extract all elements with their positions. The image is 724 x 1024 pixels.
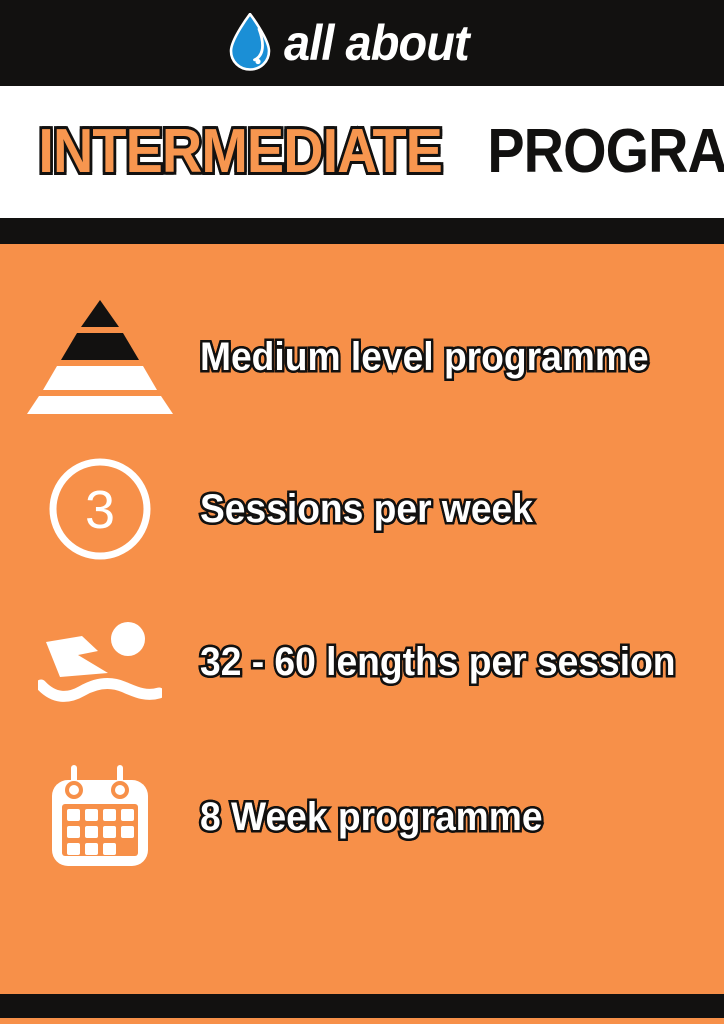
- feature-label-lengths: 32 - 60 lengths per session: [200, 642, 676, 682]
- feature-icon-slot: 3: [0, 455, 200, 563]
- footer-bar: [0, 994, 724, 1018]
- feature-icon-slot: [0, 619, 200, 705]
- feature-row-sessions: 3 Sessions per week: [0, 444, 724, 574]
- feature-label-weeks: 8 Week programme: [200, 797, 543, 837]
- feature-row-lengths: 32 - 60 lengths per session: [0, 602, 724, 722]
- programme-poster: all about INTERMEDIATE PROGRAMME (B) Med…: [0, 0, 724, 1024]
- feature-label-sessions: Sessions per week: [200, 489, 533, 529]
- number-three-circle-icon: 3: [46, 455, 154, 563]
- title-band: INTERMEDIATE PROGRAMME (B): [0, 86, 724, 218]
- page-title: INTERMEDIATE PROGRAMME (B): [0, 121, 724, 183]
- brand-header: all about: [0, 0, 724, 86]
- feature-icon-slot: [0, 298, 200, 416]
- water-droplet-icon: [228, 13, 272, 71]
- feature-label-level: Medium level programme: [200, 337, 649, 377]
- title-plain-word: PROGRAMME (B): [488, 121, 724, 183]
- brand-logo-group: all about: [228, 15, 481, 71]
- title-divider: [0, 218, 724, 244]
- calendar-icon: [48, 764, 152, 870]
- feature-row-level: Medium level programme: [0, 292, 724, 422]
- feature-row-weeks: 8 Week programme: [0, 752, 724, 882]
- footer-foot: [0, 1018, 724, 1024]
- features-list: Medium level programme 3 Sessions per we…: [0, 244, 724, 994]
- pyramid-icon: [27, 298, 173, 416]
- swimmer-icon: [38, 619, 162, 705]
- brand-name: all about: [284, 18, 469, 68]
- title-highlight-word: INTERMEDIATE: [38, 121, 442, 183]
- number-three-value: 3: [85, 480, 115, 540]
- feature-icon-slot: [0, 764, 200, 870]
